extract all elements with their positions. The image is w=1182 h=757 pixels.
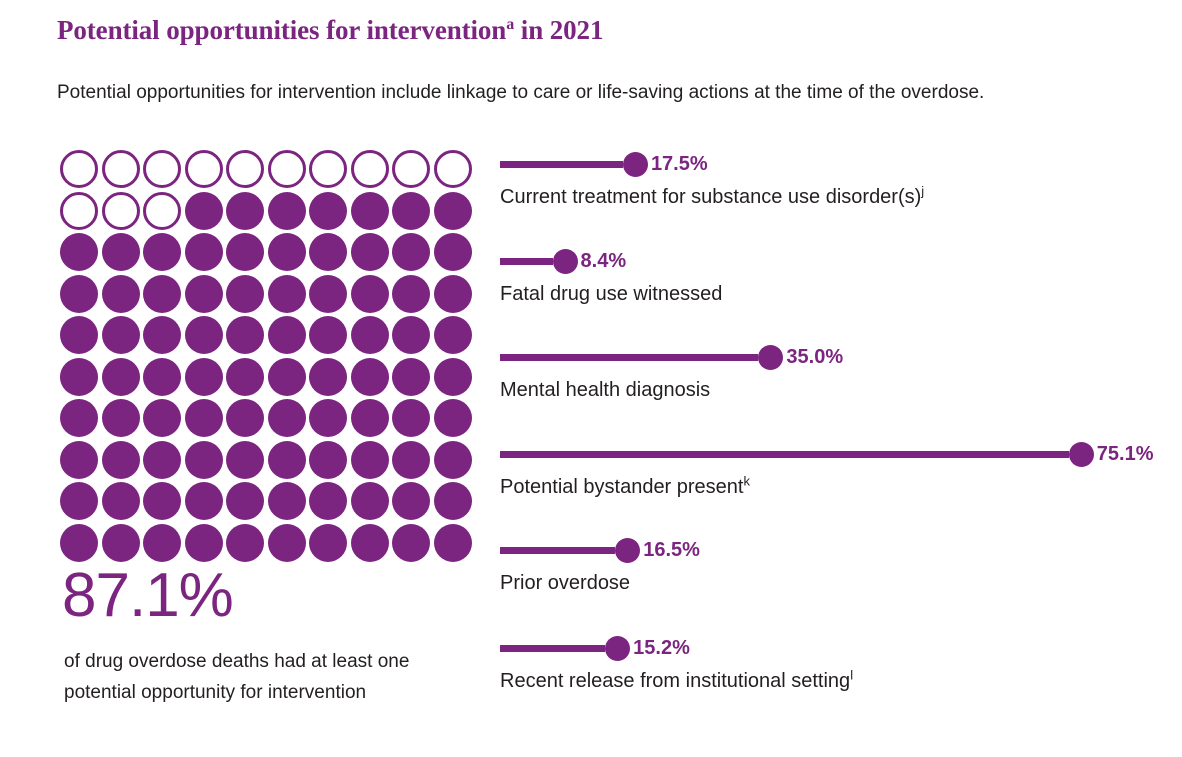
lollipop-value-label: 17.5% <box>651 150 708 179</box>
lollipop-category-label: Current treatment for substance use diso… <box>500 183 924 211</box>
lollipop-category-text: Recent release from institutional settin… <box>500 670 850 692</box>
lollipop-value-label: 75.1% <box>1097 440 1154 469</box>
lollipop-bar <box>500 354 758 361</box>
lollipop-category-text: Prior overdose <box>500 572 630 594</box>
lollipop-category-superscript: j <box>921 183 924 198</box>
lollipop-bar <box>500 547 615 554</box>
lollipop-category-text: Fatal drug use witnessed <box>500 283 722 305</box>
lollipop-value-label: 35.0% <box>786 343 843 372</box>
lollipop-bar <box>500 258 553 265</box>
lollipop-bar <box>500 645 605 652</box>
lollipop-category-label: Potential bystander presentk <box>500 473 750 501</box>
lollipop-dot <box>615 538 640 563</box>
lollipop-value-label: 16.5% <box>643 536 700 565</box>
lollipop-category-superscript: l <box>850 667 853 682</box>
infographic-page: Potential opportunities for intervention… <box>0 0 1182 757</box>
lollipop-value-label: 15.2% <box>633 634 690 663</box>
lollipop-category-label: Prior overdose <box>500 569 630 597</box>
lollipop-category-text: Potential bystander present <box>500 476 744 498</box>
lollipop-dot <box>758 345 783 370</box>
lollipop-category-label: Fatal drug use witnessed <box>500 280 722 308</box>
lollipop-category-label: Recent release from institutional settin… <box>500 667 853 695</box>
lollipop-value-label: 8.4% <box>581 247 627 276</box>
lollipop-bar <box>500 451 1069 458</box>
lollipop-dot <box>605 636 630 661</box>
lollipop-bar <box>500 161 623 168</box>
lollipop-category-label: Mental health diagnosis <box>500 376 710 404</box>
lollipop-category-superscript: k <box>744 473 751 488</box>
lollipop-category-text: Current treatment for substance use diso… <box>500 186 921 208</box>
lollipop-dot <box>623 152 648 177</box>
lollipop-dot <box>553 249 578 274</box>
lollipop-dot <box>1069 442 1094 467</box>
lollipop-chart: 17.5%Current treatment for substance use… <box>0 0 1182 757</box>
lollipop-category-text: Mental health diagnosis <box>500 379 710 401</box>
